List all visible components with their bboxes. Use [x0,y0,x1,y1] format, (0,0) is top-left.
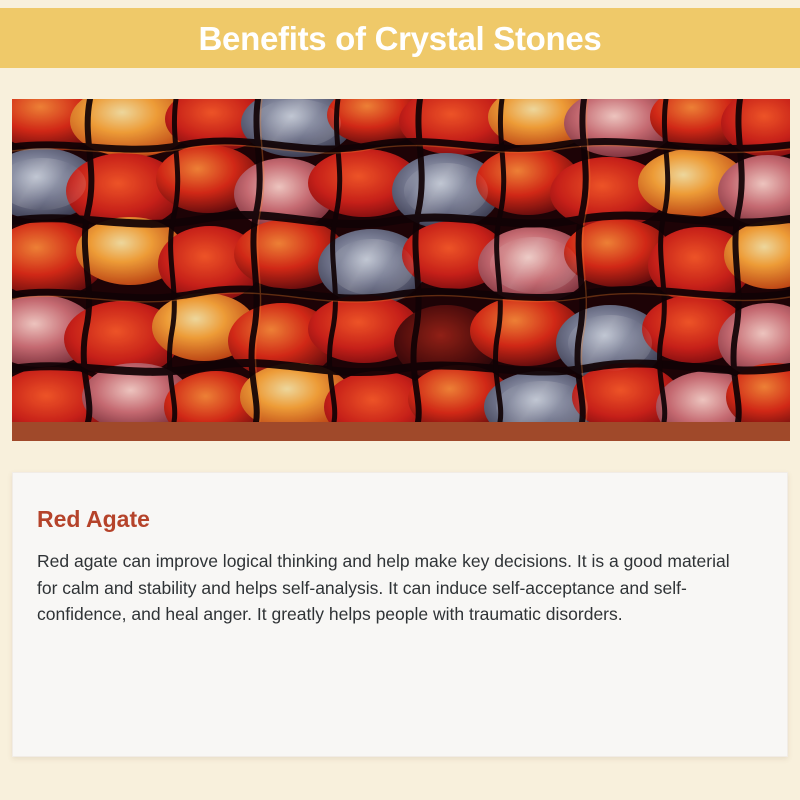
hero-bottom-strip [12,422,790,441]
page-title: Benefits of Crystal Stones [199,22,602,55]
header-band: Benefits of Crystal Stones [0,8,800,68]
hero-image-container [12,99,790,422]
description-card: Red Agate Red agate can improve logical … [12,472,788,757]
page-root: Benefits of Crystal Stones [0,0,800,800]
red-agate-slab-photo [12,99,790,422]
stone-name-heading: Red Agate [37,507,763,532]
stone-description-text: Red agate can improve logical thinking a… [37,548,749,628]
